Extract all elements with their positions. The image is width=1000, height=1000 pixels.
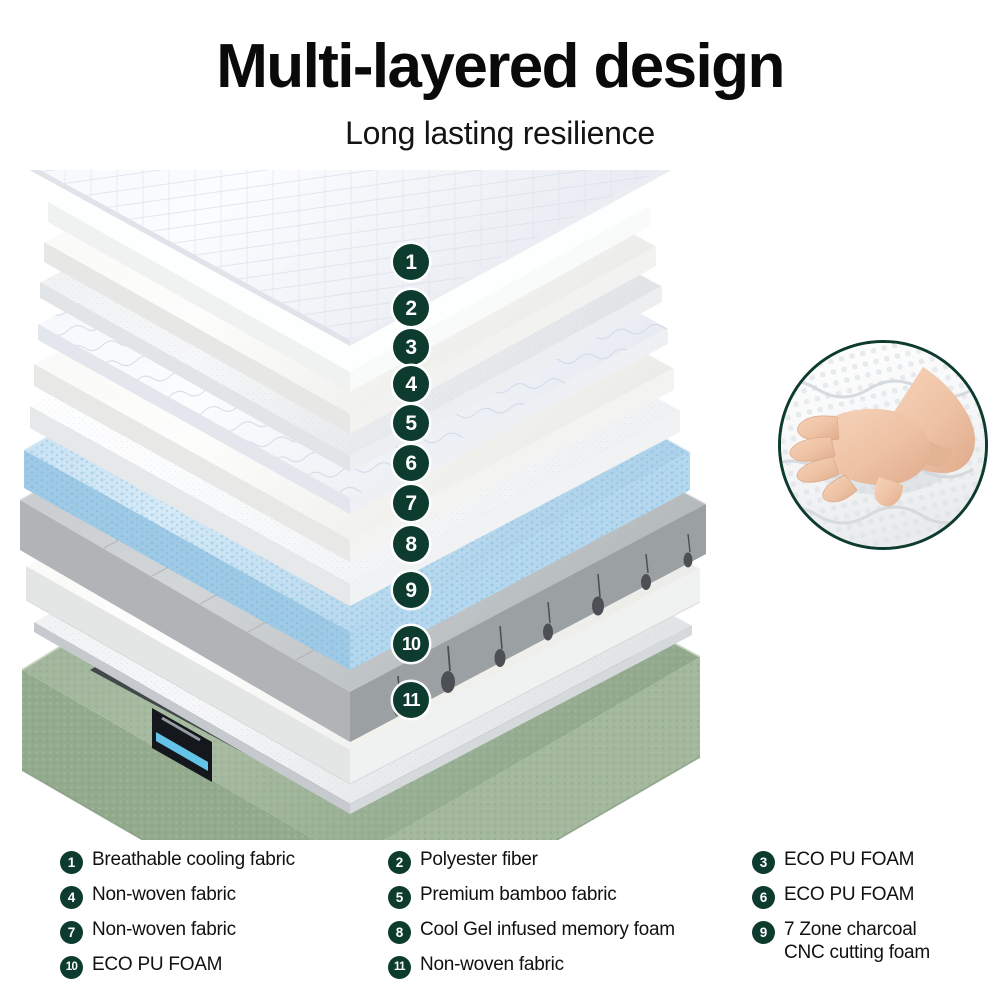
legend-item-2[interactable]: 2 Polyester fiber — [388, 848, 738, 883]
diagram-badge-4[interactable]: 4 — [393, 366, 429, 402]
legend-badge-4: 4 — [60, 886, 83, 909]
legend-label-6: ECO PU FOAM — [784, 883, 914, 906]
legend-item-7[interactable]: 7 Non-woven fabric — [60, 918, 380, 953]
legend-badge-3: 3 — [752, 851, 775, 874]
legend-item-10[interactable]: 10 ECO PU FOAM — [60, 953, 380, 988]
legend-column-2: 2 Polyester fiber 5 Premium bamboo fabri… — [388, 848, 738, 988]
legend-label-7: Non-woven fabric — [92, 918, 236, 941]
hand-on-mattress-illustration — [778, 340, 988, 550]
legend-label-4: Non-woven fabric — [92, 883, 236, 906]
diagram-badge-8[interactable]: 8 — [393, 526, 429, 562]
diagram-badge-2[interactable]: 2 — [393, 290, 429, 326]
diagram-badge-1[interactable]: 1 — [393, 244, 429, 280]
header: Multi-layered design Long lasting resili… — [0, 0, 1000, 152]
legend-item-4[interactable]: 4 Non-woven fabric — [60, 883, 380, 918]
legend-item-5[interactable]: 5 Premium bamboo fabric — [388, 883, 738, 918]
legend-item-11[interactable]: 11 Non-woven fabric — [388, 953, 738, 988]
legend-label-5: Premium bamboo fabric — [420, 883, 616, 906]
legend-label-8: Cool Gel infused memory foam — [420, 918, 675, 941]
legend-item-3[interactable]: 3 ECO PU FOAM — [752, 848, 992, 883]
legend-label-10: ECO PU FOAM — [92, 953, 222, 976]
legend-column-3: 3 ECO PU FOAM 6 ECO PU FOAM 9 7 Zone cha… — [752, 848, 992, 974]
diagram-badge-3[interactable]: 3 — [393, 329, 429, 365]
hand-press-photo-inset — [778, 340, 988, 550]
mattress-exploded-diagram: 1 2 3 4 5 6 7 8 9 10 11 — [0, 170, 1000, 840]
legend-badge-7: 7 — [60, 921, 83, 944]
legend-item-9[interactable]: 9 7 Zone charcoal CNC cutting foam — [752, 918, 992, 974]
page-subtitle: Long lasting resilience — [0, 115, 1000, 152]
legend-badge-1: 1 — [60, 851, 83, 874]
legend-column-1: 1 Breathable cooling fabric 4 Non-woven … — [60, 848, 380, 988]
legend-label-9: 7 Zone charcoal CNC cutting foam — [784, 918, 930, 964]
legend-badge-9: 9 — [752, 921, 775, 944]
diagram-badge-10[interactable]: 10 — [393, 626, 429, 662]
page-title: Multi-layered design — [0, 36, 1000, 98]
legend-badge-8: 8 — [388, 921, 411, 944]
legend-badge-11: 11 — [388, 956, 411, 979]
legend-label-3: ECO PU FOAM — [784, 848, 914, 871]
diagram-badge-7[interactable]: 7 — [393, 485, 429, 521]
diagram-badge-9[interactable]: 9 — [393, 572, 429, 608]
legend-badge-2: 2 — [388, 851, 411, 874]
legend-label-2: Polyester fiber — [420, 848, 538, 871]
legend-label-1: Breathable cooling fabric — [92, 848, 295, 871]
diagram-badge-11[interactable]: 11 — [393, 682, 429, 718]
legend-badge-6: 6 — [752, 886, 775, 909]
legend-badge-10: 10 — [60, 956, 83, 979]
legend-item-6[interactable]: 6 ECO PU FOAM — [752, 883, 992, 918]
legend-item-1[interactable]: 1 Breathable cooling fabric — [60, 848, 380, 883]
legend-item-8[interactable]: 8 Cool Gel infused memory foam — [388, 918, 738, 953]
legend: 1 Breathable cooling fabric 4 Non-woven … — [0, 848, 1000, 1000]
legend-badge-5: 5 — [388, 886, 411, 909]
diagram-badge-6[interactable]: 6 — [393, 445, 429, 481]
diagram-badge-5[interactable]: 5 — [393, 405, 429, 441]
legend-label-11: Non-woven fabric — [420, 953, 564, 976]
